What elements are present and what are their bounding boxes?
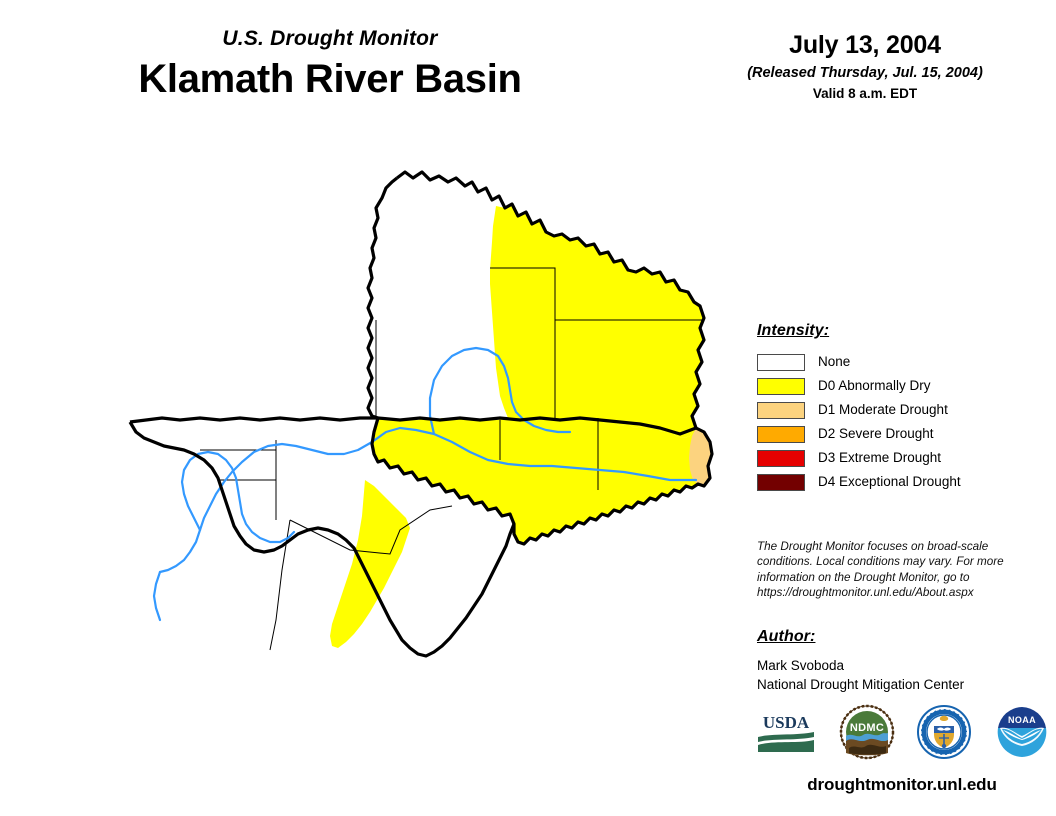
legend-item-d4[interactable]: D4 Exceptional Drought: [757, 470, 1047, 494]
drought-map[interactable]: [100, 150, 720, 730]
title-block: U.S. Drought Monitor Klamath River Basin: [0, 28, 660, 100]
svg-text:USDA: USDA: [763, 713, 810, 732]
usda-logo: USDA: [755, 709, 817, 760]
valid-time: Valid 8 a.m. EDT: [690, 87, 1040, 102]
disclaimer-text: The Drought Monitor focuses on broad-sca…: [757, 539, 1035, 601]
usdc-seal-logo: [916, 704, 972, 765]
svg-text:NDMC: NDMC: [850, 722, 884, 734]
legend-label-d2: D2 Severe Drought: [818, 427, 934, 441]
noaa-logo: NOAA: [994, 704, 1050, 765]
author-organization: National Drought Mitigation Center: [757, 675, 1047, 694]
legend-swatch-d0: [757, 378, 805, 395]
legend-label-d0: D0 Abnormally Dry: [818, 379, 931, 393]
map-date: July 13, 2004: [690, 32, 1040, 60]
website-url[interactable]: droughtmonitor.unl.edu: [757, 775, 1047, 795]
page-subtitle: U.S. Drought Monitor: [0, 28, 660, 49]
legend-swatch-d2: [757, 426, 805, 443]
legend-swatch-d1: [757, 402, 805, 419]
legend-swatch-d3: [757, 450, 805, 467]
author-name: Mark Svoboda: [757, 656, 1047, 675]
legend-item-d0[interactable]: D0 Abnormally Dry: [757, 374, 1047, 398]
legend-item-d1[interactable]: D1 Moderate Drought: [757, 398, 1047, 422]
legend-label-d4: D4 Exceptional Drought: [818, 475, 961, 489]
svg-text:NOAA: NOAA: [1008, 715, 1036, 725]
legend-swatch-d4: [757, 474, 805, 491]
page-title: Klamath River Basin: [0, 58, 660, 100]
legend-swatch-none: [757, 354, 805, 371]
author-block: Author: Mark Svoboda National Drought Mi…: [757, 628, 1047, 694]
legend-item-d3[interactable]: D3 Extreme Drought: [757, 446, 1047, 470]
legend-label-d3: D3 Extreme Drought: [818, 451, 941, 465]
intensity-legend: Intensity: None D0 Abnormally Dry D1 Mod…: [757, 322, 1047, 494]
legend-item-d2[interactable]: D2 Severe Drought: [757, 422, 1047, 446]
date-block: July 13, 2004 (Released Thursday, Jul. 1…: [690, 32, 1040, 102]
legend-item-none[interactable]: None: [757, 350, 1047, 374]
legend-title: Intensity:: [757, 322, 1047, 340]
logo-row: USDA NDMC: [755, 703, 1050, 765]
author-heading: Author:: [757, 628, 1047, 646]
legend-label-d1: D1 Moderate Drought: [818, 403, 948, 417]
release-date: (Released Thursday, Jul. 15, 2004): [690, 66, 1040, 82]
legend-label-none: None: [818, 355, 850, 369]
ndmc-logo: NDMC: [839, 704, 895, 765]
